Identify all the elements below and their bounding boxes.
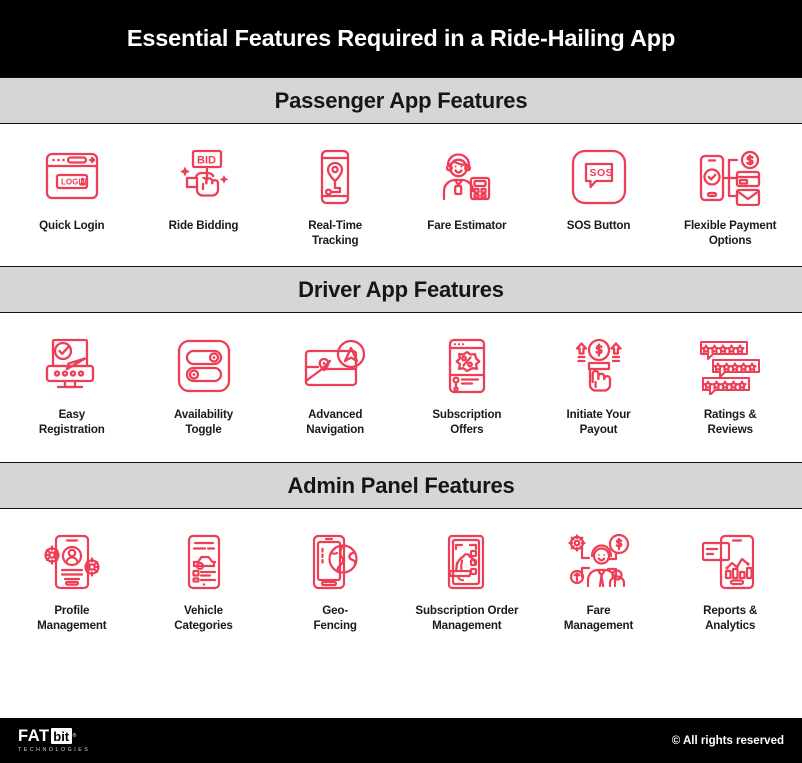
section-heading-driver: Driver App Features [298, 277, 504, 303]
hand-coin-arrows-icon [566, 333, 632, 399]
feature-label: Fare Estimator [427, 219, 506, 234]
phone-globe-icon [304, 529, 366, 595]
phone-chart-report-icon [697, 529, 763, 595]
feature-initiate-your-payout[interactable]: Initiate Your Payout [533, 333, 665, 438]
feature-fare-estimator[interactable]: Fare Estimator [401, 144, 533, 234]
feature-profile-management[interactable]: Profile Management [6, 529, 138, 634]
logo-wordmark: FAT bit ® [18, 728, 76, 745]
feature-label: Quick Login [39, 219, 104, 234]
registered-trademark-icon: ® [73, 733, 77, 739]
feature-label: Flexible Payment Options [684, 219, 776, 249]
feature-ride-bidding[interactable]: BID Ride Bidding [138, 144, 270, 234]
section-band-driver: Driver App Features [0, 266, 802, 313]
section-heading-admin: Admin Panel Features [287, 473, 514, 499]
svg-text:BID: BID [197, 155, 216, 167]
phone-payment-methods-icon [697, 144, 763, 210]
desktop-form-check-icon [41, 333, 103, 399]
feature-advanced-navigation[interactable]: Advanced Navigation [269, 333, 401, 438]
feature-label: Vehicle Categories [174, 604, 232, 634]
phone-car-list-icon [173, 529, 235, 595]
feature-vehicle-categories[interactable]: Vehicle Categories [138, 529, 270, 634]
feature-label: Subscription Offers [432, 408, 501, 438]
svg-text:SOS: SOS [589, 167, 613, 179]
feature-geo-fencing[interactable]: Geo- Fencing [269, 529, 401, 634]
feature-label: Fare Management [564, 604, 633, 634]
feature-fare-management[interactable]: Fare Management [533, 529, 665, 634]
section-band-passenger: Passenger App Features [0, 77, 802, 124]
sos-chat-bubble-icon: SOS [568, 144, 630, 210]
feature-label: Geo- Fencing [313, 604, 356, 634]
browser-login-icon: LOGIN [41, 144, 103, 210]
feature-row-driver: Easy Registration Availability Toggle [0, 313, 802, 462]
feature-subscription-offers[interactable]: Subscription Offers [401, 333, 533, 438]
feature-label: Profile Management [37, 604, 106, 634]
copyright-text: © All rights reserved [672, 735, 784, 747]
feature-easy-registration[interactable]: Easy Registration [6, 333, 138, 438]
feature-label: Real-Time Tracking [308, 219, 362, 249]
feature-label: Ride Bidding [169, 219, 239, 234]
section-band-admin: Admin Panel Features [0, 462, 802, 509]
fatbit-logo[interactable]: FAT bit ® TECHNOLOGIES [18, 728, 90, 754]
phone-bell-icon [436, 529, 498, 595]
page-title: Essential Features Required in a Ride-Ha… [127, 25, 675, 52]
feature-label: Availability Toggle [174, 408, 233, 438]
feature-flexible-payment-options[interactable]: Flexible Payment Options [664, 144, 796, 249]
star-review-bubbles-icon [697, 333, 763, 399]
feature-label: Reports & Analytics [703, 604, 757, 634]
feature-label: Ratings & Reviews [704, 408, 757, 438]
feature-real-time-tracking[interactable]: Real-Time Tracking [269, 144, 401, 249]
feature-ratings-reviews[interactable]: Ratings & Reviews [664, 333, 796, 438]
people-dollar-gear-icon [566, 529, 632, 595]
logo-badge-text: bit [51, 728, 72, 744]
section-heading-passenger: Passenger App Features [275, 88, 528, 114]
feature-label: Initiate Your Payout [567, 408, 631, 438]
feature-quick-login[interactable]: LOGIN Quick Login [6, 144, 138, 234]
logo-subtitle: TECHNOLOGIES [18, 747, 90, 753]
feature-subscription-order-management[interactable]: Subscription Order Management [401, 529, 533, 634]
feature-sos-button[interactable]: SOS SOS Button [533, 144, 665, 234]
toggle-switches-icon [173, 333, 235, 399]
feature-row-admin: Profile Management [0, 509, 802, 664]
feature-label: Advanced Navigation [306, 408, 364, 438]
phone-discount-badge-icon [436, 333, 498, 399]
phone-profile-gears-icon [39, 529, 105, 595]
feature-availability-toggle[interactable]: Availability Toggle [138, 333, 270, 438]
logo-main-text: FAT [18, 728, 50, 745]
footer-bar: FAT bit ® TECHNOLOGIES © All rights rese… [0, 718, 802, 763]
feature-reports-analytics[interactable]: Reports & Analytics [664, 529, 796, 634]
bid-sign-hand-icon: BID [173, 144, 235, 210]
infographic-page: Essential Features Required in a Ride-Ha… [0, 0, 802, 763]
map-navigation-arrow-icon [302, 333, 368, 399]
person-calculator-icon [436, 144, 498, 210]
feature-label: SOS Button [567, 219, 631, 234]
feature-row-passenger: LOGIN Quick Login BID [0, 124, 802, 266]
feature-label: Subscription Order Management [415, 604, 518, 634]
title-bar: Essential Features Required in a Ride-Ha… [0, 0, 802, 77]
footer-spacer [0, 664, 802, 718]
feature-label: Easy Registration [39, 408, 105, 438]
phone-location-route-icon [304, 144, 366, 210]
